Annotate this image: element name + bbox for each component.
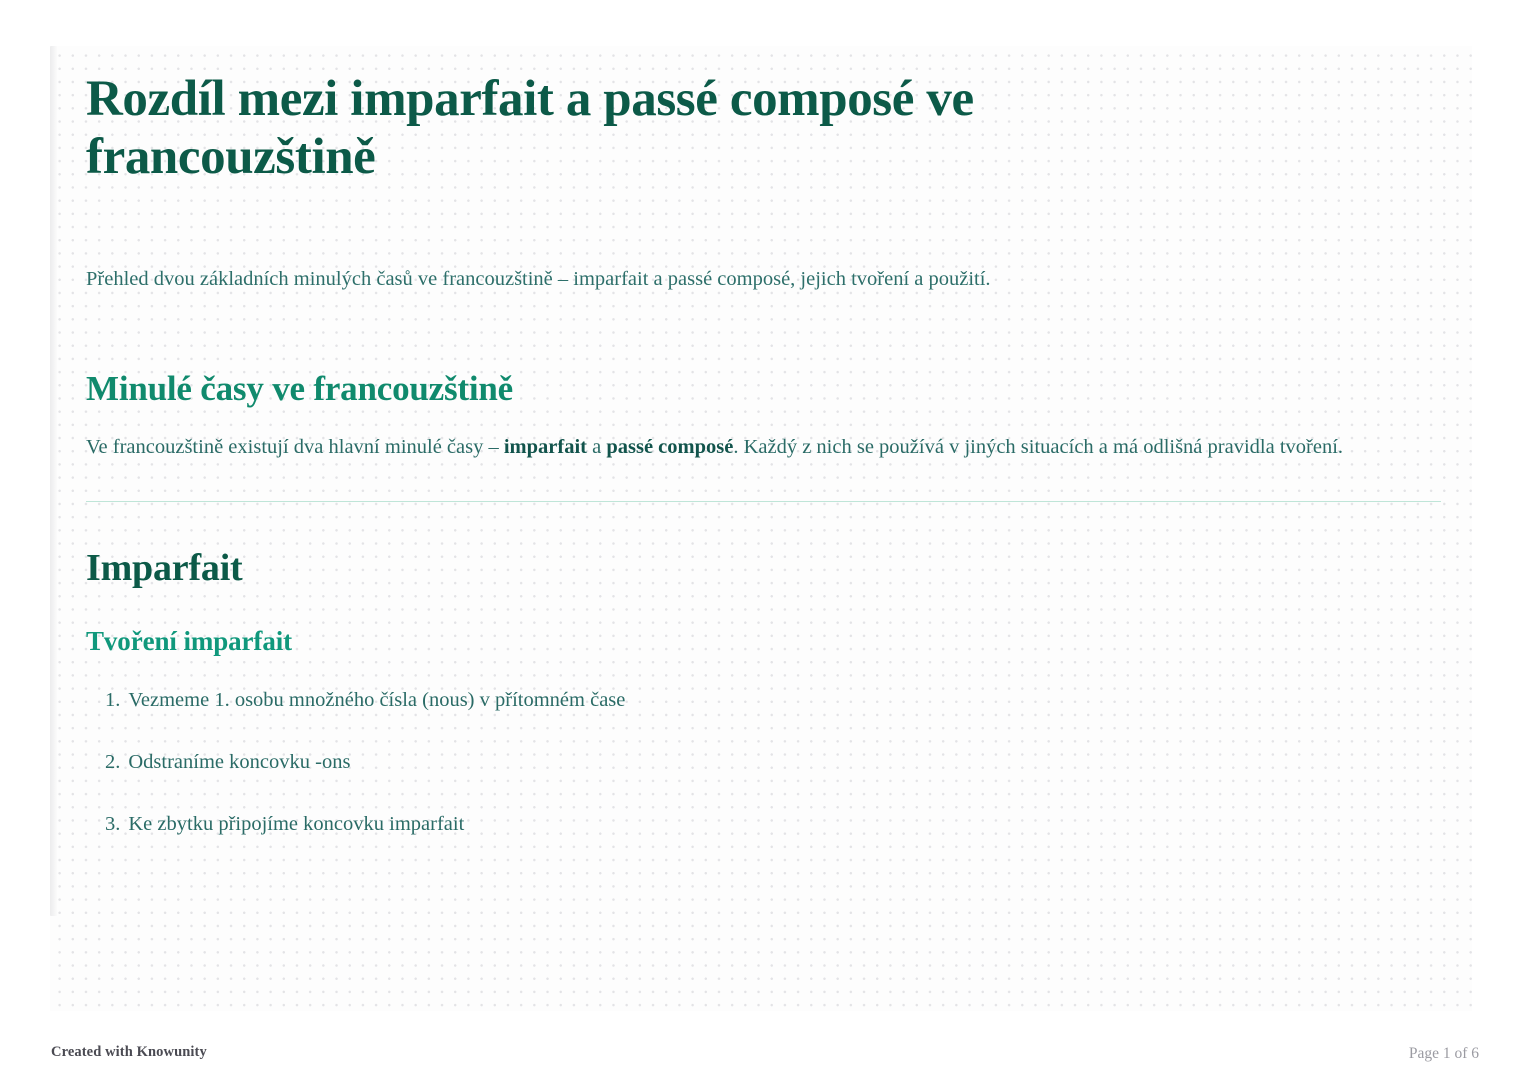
list-item-label: Ke zbytku připojíme koncovku imparfait bbox=[128, 809, 464, 840]
document-content: Rozdíl mezi imparfait a passé composé ve… bbox=[86, 46, 1441, 870]
list-item-label: Odstraníme koncovku -ons bbox=[128, 747, 350, 778]
left-accent-bar bbox=[50, 46, 57, 916]
paragraph-emphasis-passe-compose: passé composé bbox=[606, 436, 733, 458]
paragraph-past-tenses: Ve francouzštině existují dva hlavní min… bbox=[86, 431, 1416, 464]
document-subtitle: Přehled dvou základních minulých časů ve… bbox=[86, 264, 1386, 295]
page-indicator: Page 1 of 6 bbox=[1409, 1045, 1479, 1063]
list-item-number: 3. bbox=[105, 809, 120, 840]
page-title: Rozdíl mezi imparfait a passé composé ve… bbox=[86, 70, 1216, 186]
footer-attribution: Created with Knowunity bbox=[51, 1044, 207, 1061]
paragraph-text-part-2: a bbox=[587, 436, 606, 458]
formation-steps-list: 1. Vezmeme 1. osobu množného čísla (nous… bbox=[86, 685, 1441, 839]
paragraph-text-part-3: . Každý z nich se používá v jiných situa… bbox=[733, 436, 1343, 458]
subsection-heading-formation: Tvoření imparfait bbox=[86, 626, 1441, 657]
list-item-number: 1. bbox=[105, 685, 120, 716]
list-item-label: Vezmeme 1. osobu množného čísla (nous) v… bbox=[128, 685, 625, 716]
section-heading-imparfait: Imparfait bbox=[86, 546, 1441, 590]
paragraph-emphasis-imparfait: imparfait bbox=[504, 436, 587, 458]
section-divider bbox=[86, 501, 1441, 502]
document-page: Rozdíl mezi imparfait a passé composé ve… bbox=[0, 0, 1527, 1080]
list-item: 3. Ke zbytku připojíme koncovku imparfai… bbox=[105, 809, 1441, 840]
paragraph-text-part-1: Ve francouzštině existují dva hlavní min… bbox=[86, 436, 504, 458]
list-item: 1. Vezmeme 1. osobu množného čísla (nous… bbox=[105, 685, 1441, 716]
list-item: 2. Odstraníme koncovku -ons bbox=[105, 747, 1441, 778]
section-heading-past-tenses: Minulé časy ve francouzštině bbox=[86, 369, 1441, 409]
list-item-number: 2. bbox=[105, 747, 120, 778]
